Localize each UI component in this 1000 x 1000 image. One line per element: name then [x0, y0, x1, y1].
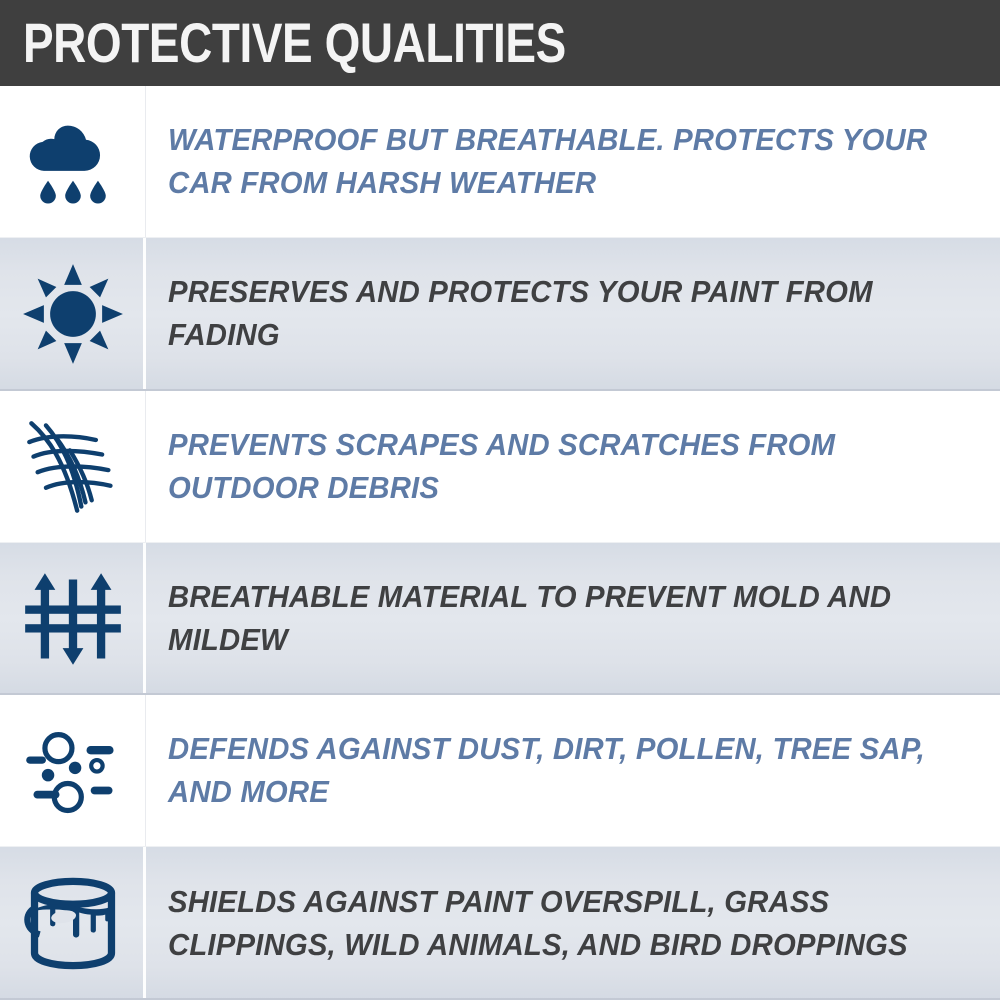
feature-row: WATERPROOF BUT BREATHABLE. PROTECTS YOUR…: [0, 86, 1000, 238]
text-cell: BREATHABLE MATERIAL TO PREVENT MOLD AND …: [146, 543, 1000, 695]
text-cell: DEFENDS AGAINST DUST, DIRT, POLLEN, TREE…: [146, 695, 1000, 847]
protective-qualities-infographic: PROTECTIVE QUALITIES WATERPROOF BUT BREA…: [0, 0, 1000, 1000]
icon-cell: [0, 86, 146, 238]
airflow-arrows-icon: [21, 567, 125, 671]
icon-cell: [0, 391, 146, 543]
text-cell: PREVENTS SCRAPES AND SCRATCHES FROM OUTD…: [146, 391, 1000, 543]
feature-text: PREVENTS SCRAPES AND SCRATCHES FROM OUTD…: [168, 424, 934, 510]
sun-icon: [21, 262, 125, 366]
rain-cloud-icon: [21, 110, 125, 214]
header-bar: PROTECTIVE QUALITIES: [0, 0, 1000, 86]
dust-particles-icon: [21, 719, 125, 823]
feature-row: PRESERVES AND PROTECTS YOUR PAINT FROM F…: [0, 238, 1000, 390]
feature-text: SHIELDS AGAINST PAINT OVERSPILL, GRASS C…: [168, 881, 934, 967]
feature-row: SHIELDS AGAINST PAINT OVERSPILL, GRASS C…: [0, 847, 1000, 999]
icon-cell: [0, 238, 146, 390]
paint-bucket-icon: [21, 872, 125, 976]
page-title: PROTECTIVE QUALITIES: [0, 15, 566, 71]
feature-row: BREATHABLE MATERIAL TO PREVENT MOLD AND …: [0, 543, 1000, 695]
feature-text: DEFENDS AGAINST DUST, DIRT, POLLEN, TREE…: [168, 728, 934, 814]
text-cell: PRESERVES AND PROTECTS YOUR PAINT FROM F…: [146, 238, 1000, 390]
feature-list: WATERPROOF BUT BREATHABLE. PROTECTS YOUR…: [0, 86, 1000, 1000]
feature-row: PREVENTS SCRAPES AND SCRATCHES FROM OUTD…: [0, 391, 1000, 543]
feature-text: BREATHABLE MATERIAL TO PREVENT MOLD AND …: [168, 576, 934, 662]
feature-text: PRESERVES AND PROTECTS YOUR PAINT FROM F…: [168, 271, 934, 357]
icon-cell: [0, 847, 146, 999]
feature-row: DEFENDS AGAINST DUST, DIRT, POLLEN, TREE…: [0, 695, 1000, 847]
scratch-mesh-icon: [21, 415, 125, 519]
icon-cell: [0, 543, 146, 695]
feature-text: WATERPROOF BUT BREATHABLE. PROTECTS YOUR…: [168, 119, 934, 205]
icon-cell: [0, 695, 146, 847]
text-cell: WATERPROOF BUT BREATHABLE. PROTECTS YOUR…: [146, 86, 1000, 238]
text-cell: SHIELDS AGAINST PAINT OVERSPILL, GRASS C…: [146, 847, 1000, 999]
